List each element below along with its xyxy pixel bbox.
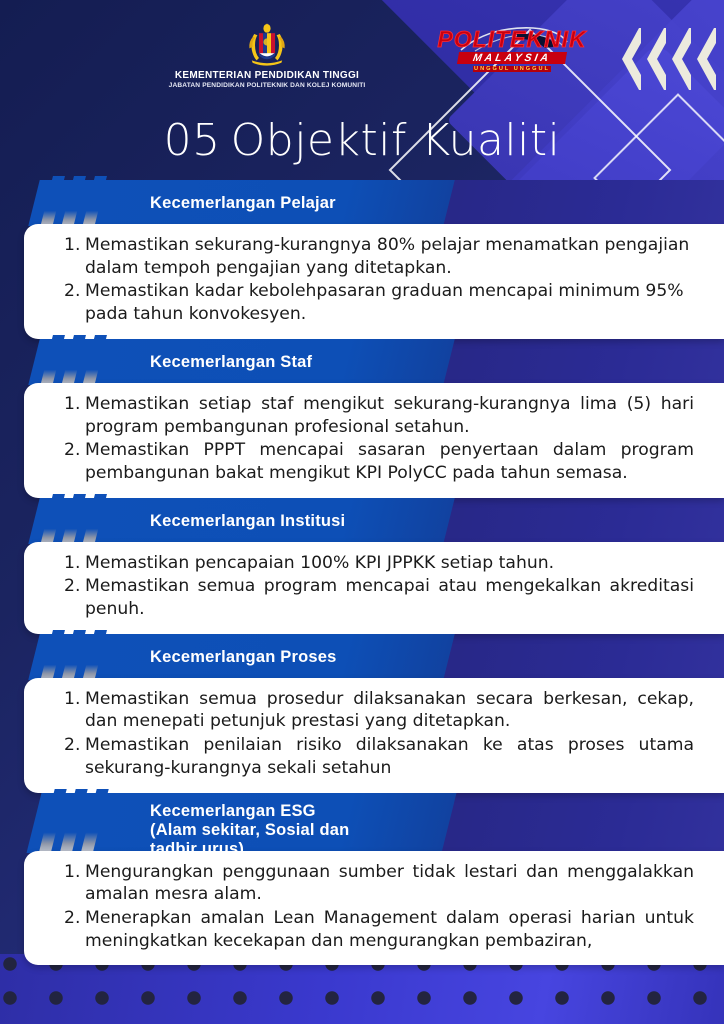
section-title: Kecemerlangan Institusi <box>34 498 724 544</box>
ministry-name-line2: JABATAN PENDIDIKAN POLITEKNIK DAN KOLEJ … <box>137 82 397 89</box>
objective-section: Kecemerlangan ProsesMemastikan semua pro… <box>0 634 724 793</box>
logo-tagline: UNGGUL UNGGUL <box>473 66 551 72</box>
ministry-name-line1: KEMENTERIAN PENDIDIKAN TINGGI <box>137 70 397 81</box>
objective-item: Memastikan PPPT mencapai sasaran penyert… <box>64 439 694 484</box>
objective-item: Memastikan pencapaian 100% KPI JPPKK set… <box>64 552 694 575</box>
section-title: Kecemerlangan ESG (Alam sekitar, Sosial … <box>34 793 364 860</box>
objective-section: Kecemerlangan ESG (Alam sekitar, Sosial … <box>0 793 724 966</box>
malaysia-wordmark: MALAYSIA <box>457 52 567 64</box>
objective-item-list: Mengurangkan penggunaan sumber tidak les… <box>64 861 694 953</box>
politeknik-wordmark: POLITEKNIK <box>437 28 587 51</box>
section-card: Mengurangkan penggunaan sumber tidak les… <box>24 851 724 966</box>
section-banner: Kecemerlangan Institusi <box>34 498 724 544</box>
malaysia-coat-of-arms-icon <box>243 22 291 66</box>
objective-item: Memastikan sekurang-kurangnya 80% pelaja… <box>64 234 694 279</box>
objective-section: Kecemerlangan PelajarMemastikan sekurang… <box>0 180 724 339</box>
section-banner: Kecemerlangan Pelajar <box>34 180 724 226</box>
objective-item: Mengurangkan penggunaan sumber tidak les… <box>64 861 694 906</box>
objective-item: Menerapkan amalan Lean Management dalam … <box>64 907 694 952</box>
section-card: Memastikan pencapaian 100% KPI JPPKK set… <box>24 542 724 634</box>
section-title: Kecemerlangan Pelajar <box>34 180 724 226</box>
objective-item-list: Memastikan setiap staf mengikut sekurang… <box>64 393 694 485</box>
section-card: Memastikan semua prosedur dilaksanakan s… <box>24 678 724 793</box>
page-title: 05Objektif Kualiti <box>0 115 724 166</box>
objective-item-list: Memastikan semua prosedur dilaksanakan s… <box>64 688 694 780</box>
page-title-number: 05 <box>164 115 221 166</box>
objective-item-list: Memastikan pencapaian 100% KPI JPPKK set… <box>64 552 694 621</box>
section-title: Kecemerlangan Staf <box>34 339 724 385</box>
section-banner: Kecemerlangan Staf <box>34 339 724 385</box>
section-card: Memastikan sekurang-kurangnya 80% pelaja… <box>24 224 724 339</box>
politeknik-malaysia-logo: POLITEKNIK MALAYSIA UNGGUL UNGGUL <box>437 22 587 72</box>
ministry-logo-block: KEMENTERIAN PENDIDIKAN TINGGI JABATAN PE… <box>137 22 397 89</box>
section-title: Kecemerlangan Proses <box>34 634 724 680</box>
objective-item: Memastikan setiap staf mengikut sekurang… <box>64 393 694 438</box>
objective-section: Kecemerlangan StafMemastikan setiap staf… <box>0 339 724 498</box>
section-card: Memastikan setiap staf mengikut sekurang… <box>24 383 724 498</box>
section-banner: Kecemerlangan ESG (Alam sekitar, Sosial … <box>34 793 724 853</box>
page-header: KEMENTERIAN PENDIDIKAN TINGGI JABATAN PE… <box>0 0 724 166</box>
page-title-text: Objektif Kualiti <box>231 115 561 166</box>
objective-section: Kecemerlangan InstitusiMemastikan pencap… <box>0 498 724 634</box>
objective-item: Memastikan penilaian risiko dilaksanakan… <box>64 734 694 779</box>
objective-item: Memastikan semua program mencapai atau m… <box>64 575 694 620</box>
objectives-list: Kecemerlangan PelajarMemastikan sekurang… <box>0 180 724 965</box>
objective-item: Memastikan kadar kebolehpasaran graduan … <box>64 280 694 325</box>
objective-item: Memastikan semua prosedur dilaksanakan s… <box>64 688 694 733</box>
logo-row: KEMENTERIAN PENDIDIKAN TINGGI JABATAN PE… <box>0 22 724 89</box>
objective-item-list: Memastikan sekurang-kurangnya 80% pelaja… <box>64 234 694 326</box>
section-banner: Kecemerlangan Proses <box>34 634 724 680</box>
